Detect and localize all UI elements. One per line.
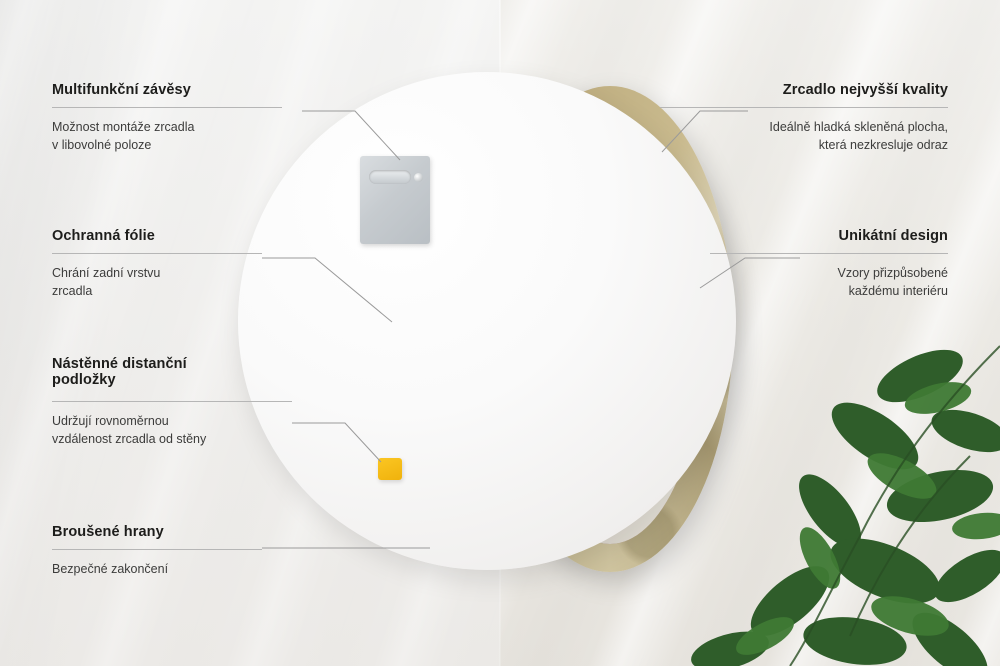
callout-rule <box>52 253 262 254</box>
callout-body: Udržují rovnoměrnou vzdálenost zrcadla o… <box>52 413 292 449</box>
callout-title: Broušené hrany <box>52 524 262 540</box>
callout-rule <box>52 401 292 402</box>
callout-highest-quality-mirror: Zrcadlo nejvyšší kvality Ideálně hladká … <box>660 82 948 155</box>
callout-body: Ideálně hladká skleněná plocha, která ne… <box>660 119 948 155</box>
callout-wall-spacers: Nástěnné distanční podložky Udržují rovn… <box>52 356 292 449</box>
callout-body: Možnost montáže zrcadla v libovolné polo… <box>52 119 282 155</box>
callout-protective-foil: Ochranná fólie Chrání zadní vrstvu zrcad… <box>52 228 262 301</box>
callout-multifunctional-hangers: Multifunkční závěsy Možnost montáže zrca… <box>52 82 282 155</box>
callout-title: Zrcadlo nejvyšší kvality <box>660 82 948 98</box>
callout-title: Ochranná fólie <box>52 228 262 244</box>
callout-title: Nástěnné distanční podložky <box>52 356 292 388</box>
callout-rule <box>710 253 948 254</box>
callout-body: Vzory přizpůsobené každému interiéru <box>710 265 948 301</box>
callout-unique-design: Unikátní design Vzory přizpůsobené každé… <box>710 228 948 301</box>
callout-body: Bezpečné zakončení <box>52 561 262 579</box>
callout-polished-edges: Broušené hrany Bezpečné zakončení <box>52 524 262 579</box>
callout-rule <box>660 107 948 108</box>
callout-title: Unikátní design <box>710 228 948 244</box>
infographic-canvas: Multifunkční závěsy Možnost montáže zrca… <box>0 0 1000 666</box>
callout-body: Chrání zadní vrstvu zrcadla <box>52 265 262 301</box>
callout-title: Multifunkční závěsy <box>52 82 282 98</box>
callout-rule <box>52 107 282 108</box>
callout-rule <box>52 549 262 550</box>
